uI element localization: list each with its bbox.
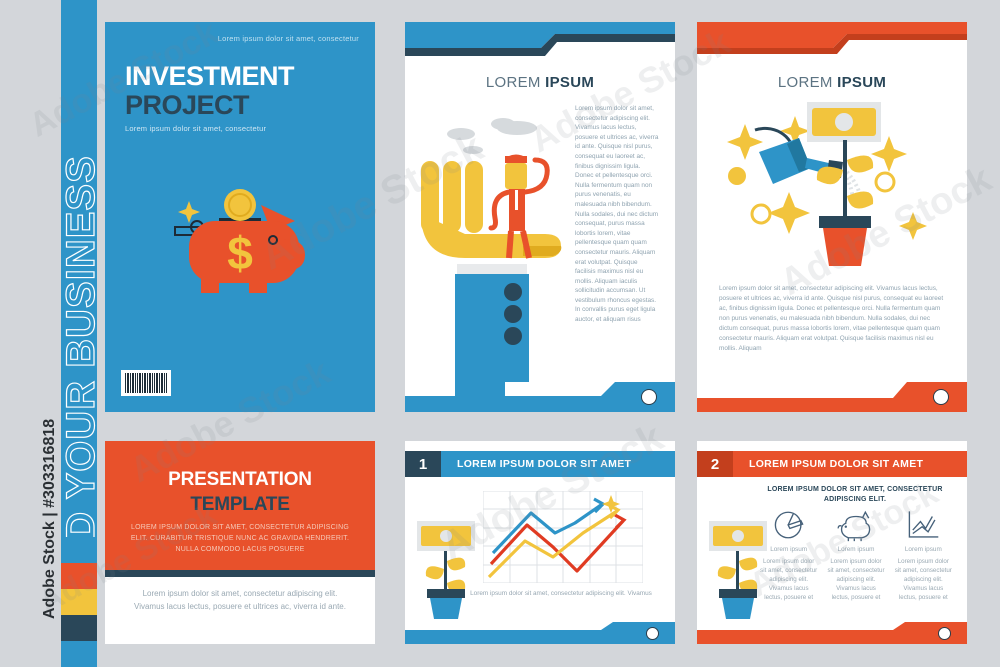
swatch-yellow: [61, 589, 97, 615]
page-hand-title-light: LOREM: [486, 74, 541, 91]
swatch-navy: [61, 615, 97, 641]
cover-title-block: INVESTMENT PROJECT Lorem ipsum dolor sit…: [125, 62, 294, 133]
presentation-title-line1: PRESENTATION: [105, 469, 375, 491]
swatch-orange: [61, 563, 97, 589]
page-plant-footer-band: [697, 382, 967, 412]
icon-label: Lorem ipsum: [890, 546, 957, 553]
presentation-body: Lorem ipsum dolor sit amet, consectetur …: [131, 588, 349, 613]
watermark-credit: Adobe Stock | #303316818: [41, 259, 59, 619]
presentation-title-slide: PRESENTATION TEMPLATE LOREM IPSUM DOLOR …: [105, 441, 375, 644]
cover-subtitle: Lorem ipsum dolor sit amet, consectetur: [125, 124, 294, 133]
line-chart-graphic: [483, 491, 643, 583]
footer-dot: [938, 627, 951, 640]
page-plant-title-bold: IPSUM: [837, 74, 886, 91]
page-hand-title-bold: IPSUM: [545, 74, 594, 91]
slide-icons: 2 LOREM IPSUM DOLOR SIT AMET LOREM IPSUM…: [697, 441, 967, 644]
svg-text:$: $: [227, 227, 253, 279]
slide-chart-number: 1: [405, 451, 441, 477]
footer-dot: [641, 389, 657, 405]
page-plant-body: Lorem ipsum dolor sit amet, consectetur …: [719, 284, 945, 354]
slide-chart-header: 1 LOREM IPSUM DOLOR SIT AMET: [405, 451, 675, 477]
slide-chart-title-bar: LOREM IPSUM DOLOR SIT AMET: [441, 451, 675, 477]
watering-can-money-plant-illustration: [707, 100, 957, 270]
piggy-bank-illustration: $: [145, 187, 345, 317]
page-plant-title-light: LOREM: [778, 74, 833, 91]
presentation-divider: [105, 570, 375, 577]
page-plant-title: LOREM IPSUM: [697, 74, 967, 91]
page-hand-title: LOREM IPSUM: [405, 74, 675, 91]
slide-icons-title-bar: LOREM IPSUM DOLOR SIT AMET: [733, 451, 967, 477]
page-plant: LOREM IPSUM: [697, 22, 967, 412]
icon-label: Lorem ipsum: [822, 546, 889, 553]
icon-column: Lorem ipsum Lorem ipsum dolor sit amet, …: [890, 505, 957, 602]
money-plant-small: [413, 519, 479, 619]
icon-label: Lorem ipsum: [755, 546, 822, 553]
slide-icons-number: 2: [697, 451, 733, 477]
hand-businessman-illustration: [405, 104, 585, 382]
slide-chart-caption: Lorem ipsum dolor sit amet, consectetur …: [465, 589, 657, 599]
brochure-cover: Lorem ipsum dolor sit amet, consectetur …: [105, 22, 375, 412]
swatch-blue-bottom: [61, 641, 97, 667]
slide-icons-title: LOREM IPSUM DOLOR SIT AMET: [733, 458, 923, 470]
presentation-subtitle: LOREM IPSUM DOLOR SIT AMET, CONSECTETUR …: [123, 522, 357, 555]
slide-chart: 1 LOREM IPSUM DOLOR SIT AMET: [405, 441, 675, 644]
piggy-bank-icon: [822, 505, 889, 545]
slide-chart-title: LOREM IPSUM DOLOR SIT AMET: [441, 458, 631, 470]
slide-chart-footer-band: [405, 622, 675, 644]
page-hand-header-band: [405, 22, 675, 56]
presentation-title-line2: TEMPLATE: [105, 494, 375, 516]
icon-text: Lorem ipsum dolor sit amet, consectetur …: [822, 553, 889, 602]
slide-icons-header: 2 LOREM IPSUM DOLOR SIT AMET: [697, 451, 967, 477]
page-plant-header-band: [697, 22, 967, 56]
icon-column: Lorem ipsum Lorem ipsum dolor sit amet, …: [822, 505, 889, 602]
line-chart-icon: [890, 505, 957, 545]
color-swatch-strip: [61, 537, 97, 667]
swatch-blue-top: [61, 537, 97, 563]
icon-text: Lorem ipsum dolor sit amet, consectetur …: [890, 553, 957, 602]
cover-title-line1: INVESTMENT: [125, 62, 294, 90]
pie-chart-icon: [755, 505, 822, 545]
slide-icons-footer-band: [697, 622, 967, 644]
barcode: [121, 370, 171, 396]
footer-dot: [646, 627, 659, 640]
footer-dot: [933, 389, 949, 405]
page-hand-footer-band: [405, 382, 675, 412]
page-hand-body: Lorem ipsum dolor sit amet, consectetur …: [575, 104, 659, 325]
icon-text: Lorem ipsum dolor sit amet, consectetur …: [755, 553, 822, 602]
icon-columns: Lorem ipsum Lorem ipsum dolor sit amet, …: [755, 505, 957, 602]
page-hand: LOREM IPSUM: [405, 22, 675, 412]
icon-column: Lorem ipsum Lorem ipsum dolor sit amet, …: [755, 505, 822, 602]
cover-kicker: Lorem ipsum dolor sit amet, consectetur: [218, 34, 359, 43]
slide-icons-subtitle: LOREM IPSUM DOLOR SIT AMET, CONSECTETUR …: [757, 485, 953, 505]
poster-canvas: BUILD YOUR BUSINESS Lorem ipsum dolor si…: [0, 0, 1000, 667]
cover-title-line2: PROJECT: [125, 90, 294, 120]
